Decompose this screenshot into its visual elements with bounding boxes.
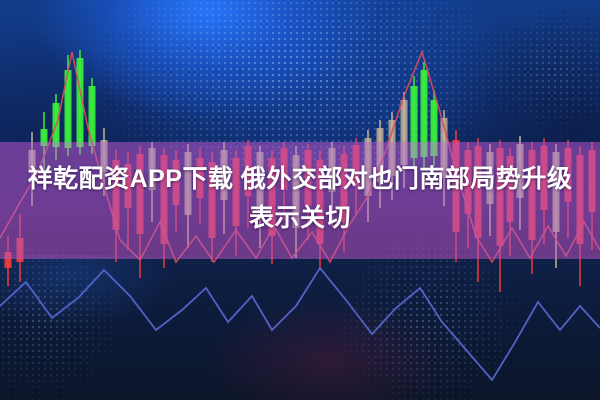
headline-line-2: 表示关切 (0, 199, 600, 238)
headline-line-1: 祥乾配资APP下载 俄外交部对也门南部局势升级 (0, 160, 600, 199)
blue-trend-polyline (0, 268, 600, 380)
headline-text: 祥乾配资APP下载 俄外交部对也门南部局势升级 表示关切 (0, 160, 600, 238)
thumbnail-image: 祥乾配资APP下载 俄外交部对也门南部局势升级 表示关切 (0, 0, 600, 400)
